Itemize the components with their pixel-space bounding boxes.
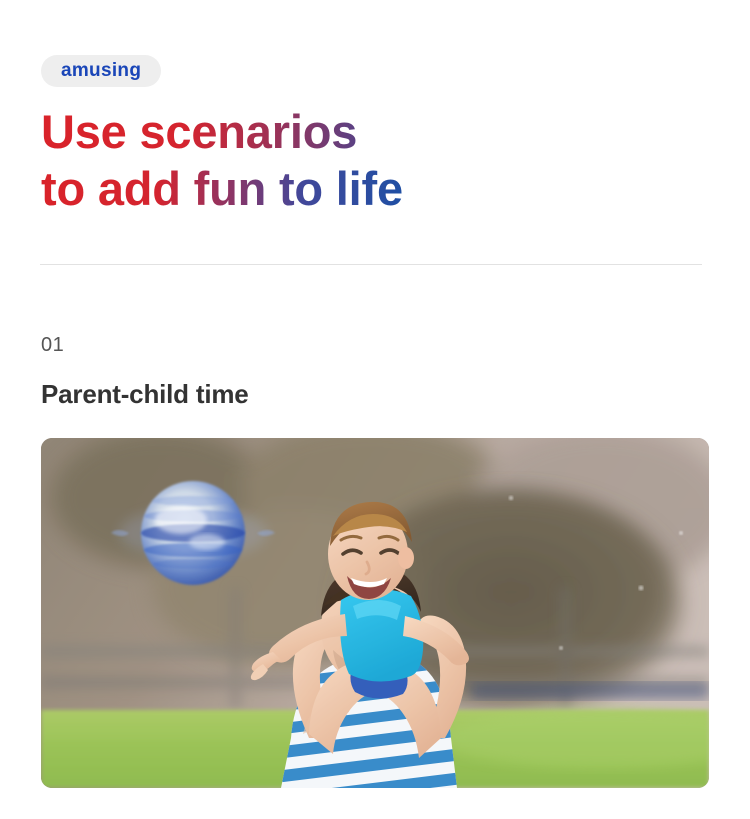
headline-line-1: Use scenarios [41, 103, 357, 160]
badge-row: amusing [41, 55, 161, 87]
promo-page: amusing Use scenarios to add fun to life… [0, 0, 750, 819]
section-title: Parent-child time [41, 379, 249, 410]
scenario-photo-illustration [41, 438, 709, 788]
section-number: 01 [41, 334, 64, 357]
scenario-photo [41, 438, 709, 788]
category-badge: amusing [41, 55, 161, 87]
page-title: Use scenarios to add fun to life [41, 103, 701, 218]
headline-line-2: to add fun to life [41, 160, 403, 217]
section-divider [40, 264, 702, 265]
